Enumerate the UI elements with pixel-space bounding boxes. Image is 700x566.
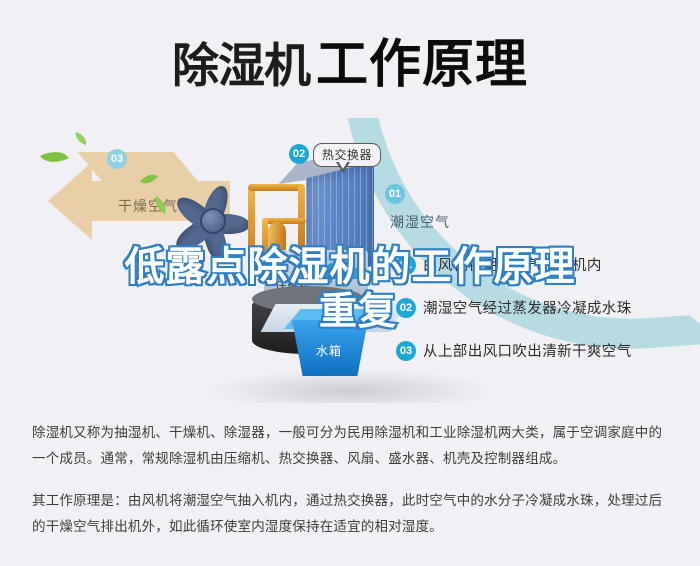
fan-hub [200, 208, 226, 234]
legend-item: 01 由风机将潮湿空气抽入机内 [396, 254, 696, 275]
body-paragraph-1: 除湿机又称为抽湿机、干燥机、除湿器，一般可分为民用除湿机和工业除湿机两大类，属于… [32, 420, 672, 472]
dehumidifier-diagram: 干燥空气 [0, 118, 700, 403]
badge-02-heat-exchanger: 02 [289, 144, 309, 164]
legend-item: 02 潮湿空气经过蒸发器冷凝成水珠 [396, 297, 696, 318]
legend-list: 01 由风机将潮湿空气抽入机内 02 潮湿空气经过蒸发器冷凝成水珠 03 从上部… [396, 254, 696, 383]
badge-01-moist-air: 01 [385, 184, 405, 204]
legend-badge: 02 [396, 298, 416, 318]
legend-badge: 01 [396, 255, 416, 275]
body-copy: 除湿机又称为抽湿机、干燥机、除湿器，一般可分为民用除湿机和工业除湿机两大类，属于… [32, 420, 672, 540]
legend-text: 潮湿空气经过蒸发器冷凝成水珠 [423, 297, 632, 318]
body-paragraph-2: 其工作原理是：由风机将潮湿空气抽入机内，通过热交换器，此时空气中的水分子冷凝成水… [32, 488, 672, 540]
legend-item: 03 从上部出风口吹出清新干爽空气 [396, 340, 696, 361]
legend-text: 由风机将潮湿空气抽入机内 [423, 254, 602, 275]
air-intake-arrow-shaft [330, 268, 366, 279]
page-title-light: 除湿机 [172, 39, 310, 94]
dry-air-arrow-head [48, 162, 92, 240]
legend-badge: 03 [396, 341, 416, 361]
infographic-page: 除湿机工作原理 干燥空气 [0, 0, 700, 566]
page-title: 除湿机工作原理 [0, 22, 700, 97]
badge-03-dry-air: 03 [107, 149, 127, 169]
leaf-icon [73, 132, 89, 146]
legend-text: 从上部出风口吹出清新干爽空气 [423, 340, 632, 361]
page-title-strong: 工作原理 [316, 35, 528, 95]
water-tank-label: 水箱 [316, 342, 342, 359]
air-intake-arrow-head [316, 262, 332, 284]
heat-exchanger-callout-pointer [336, 162, 350, 173]
moist-air-label: 潮湿空气 [390, 212, 450, 232]
